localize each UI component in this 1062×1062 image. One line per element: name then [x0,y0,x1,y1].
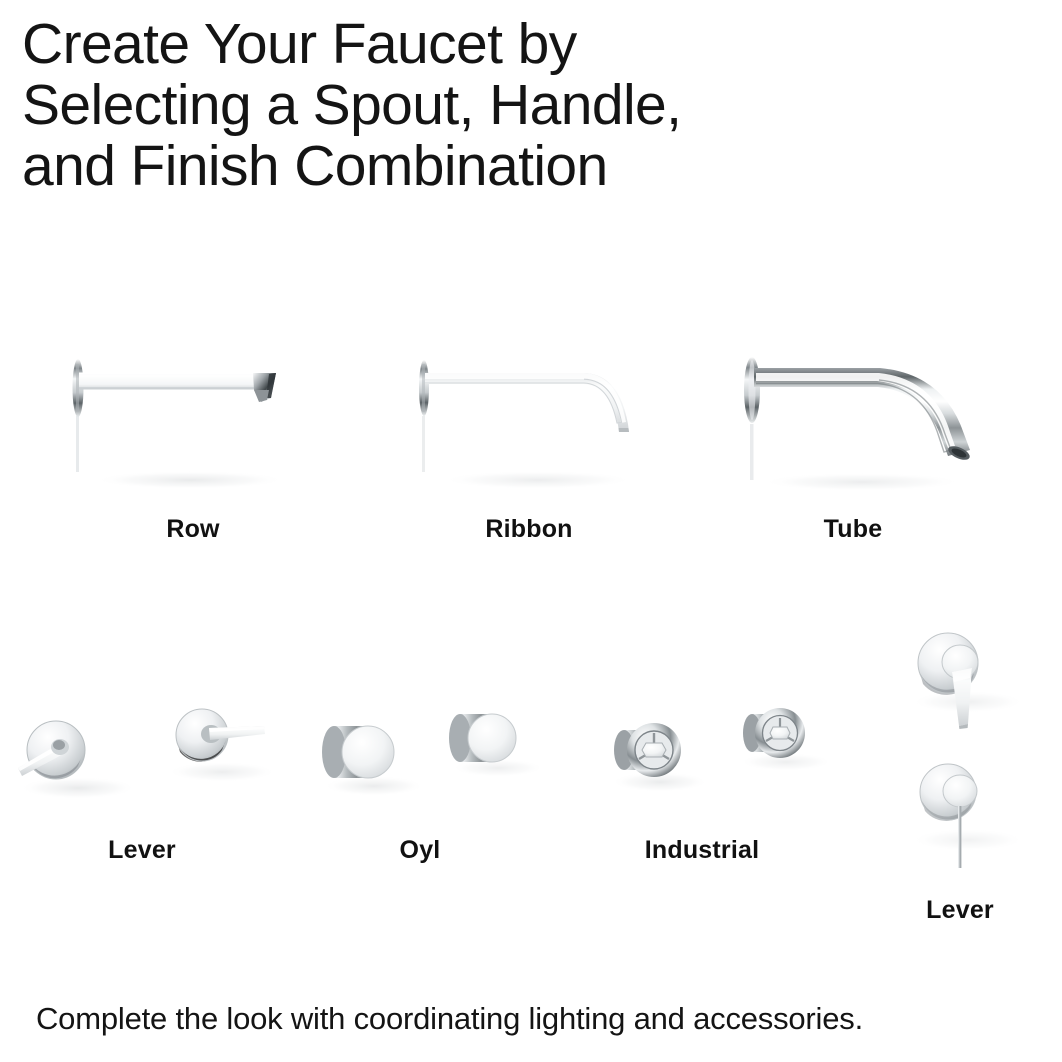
product-configurator-poster: Create Your Faucet by Selecting a Spout,… [0,0,1062,1062]
footer-note: Complete the look with coordinating ligh… [36,1000,863,1038]
spout-ribbon-icon [388,340,708,510]
spout-option-row[interactable] [40,340,360,510]
mixer-option-lever[interactable] [890,620,1062,890]
spout-label-row: Row [166,515,219,544]
handle-oyl-icon [312,690,552,820]
page-title: Create Your Faucet by Selecting a Spout,… [22,14,922,197]
spout-label-ribbon: Ribbon [485,515,572,544]
handle-industrial-icon [600,690,850,820]
spout-label-tube: Tube [824,515,883,544]
mixer-label-lever: Lever [926,896,994,925]
spout-tube-icon [712,340,1042,510]
handle-lever-icon [6,690,286,820]
handle-option-lever[interactable] [6,690,286,820]
handle-label-industrial: Industrial [645,836,760,865]
spout-option-tube[interactable] [712,340,1042,510]
handle-label-lever: Lever [108,836,176,865]
spout-option-ribbon[interactable] [388,340,708,510]
spout-row-icon [40,340,360,510]
handle-label-oyl: Oyl [400,836,441,865]
handle-option-oyl[interactable] [312,690,552,820]
handle-option-industrial[interactable] [600,690,850,820]
mixer-lever-icon [890,620,1062,890]
